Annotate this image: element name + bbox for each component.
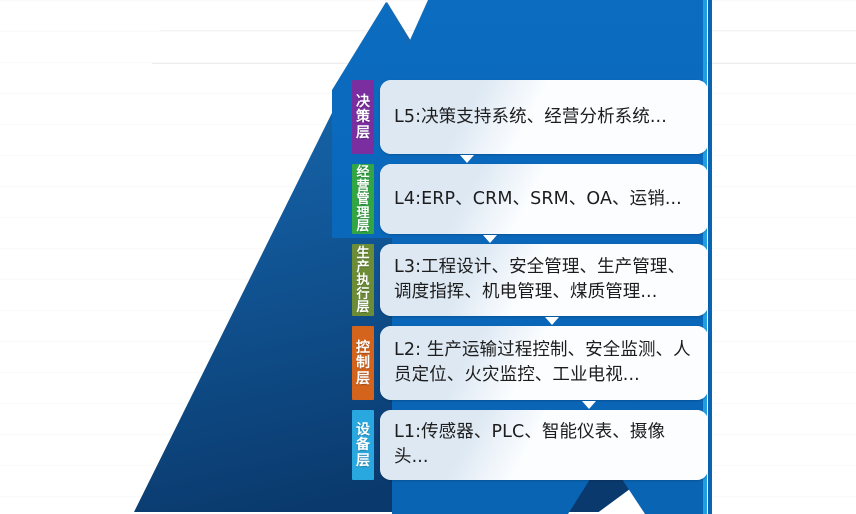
card-l2[interactable]: L2: 生产运输过程控制、安全监测、人员定位、火灾监控、工业电视... [380,326,708,400]
chip-char: 决 [356,94,370,110]
chip-char: 生 [356,246,369,260]
layer-text-l2: L2: 生产运输过程控制、安全监测、人员定位、火灾监控、工业电视... [380,338,708,388]
chip-char: 层 [356,219,369,233]
chip-char: 行 [356,287,369,301]
chip-char: 层 [356,125,370,141]
card-l4[interactable]: L4:ERP、CRM、SRM、OA、运销... [380,164,708,234]
chip-char: 控 [356,340,370,356]
layer-row-l4[interactable]: 经 营 管 理 层 L4:ERP、CRM、SRM、OA、运销... [352,164,708,234]
chip-char: 经 [356,165,369,179]
layer-row-l1[interactable]: 设 备 层 L1:传感器、PLC、智能仪表、摄像头... [352,410,708,480]
connector-notch [460,155,474,163]
layer-text-l3: L3:工程设计、安全管理、生产管理、调度指挥、机电管理、煤质管理... [380,255,708,305]
card-l1[interactable]: L1:传感器、PLC、智能仪表、摄像头... [380,410,708,480]
chip-char: 层 [356,300,369,314]
chip-char: 管 [356,192,369,206]
chip-char: 执 [356,273,369,287]
chip-char: 策 [356,109,370,125]
chip-l3: 生 产 执 行 层 [352,244,374,316]
chip-l4: 经 营 管 理 层 [352,164,374,234]
chip-l5: 决 策 层 [352,80,374,154]
layer-list: 决 策 层 L5:决策支持系统、经营分析系统... 经 营 管 理 层 L4:E… [0,0,856,514]
chip-char: 层 [356,371,370,387]
connector-notch [545,317,559,325]
chip-char: 设 [356,422,370,438]
layer-text-l5: L5:决策支持系统、经营分析系统... [380,105,708,130]
chip-l1: 设 备 层 [352,410,374,480]
layer-row-l2[interactable]: 控 制 层 L2: 生产运输过程控制、安全监测、人员定位、火灾监控、工业电视..… [352,326,708,400]
layer-text-l1: L1:传感器、PLC、智能仪表、摄像头... [380,420,708,470]
chip-char: 层 [356,453,370,469]
layer-row-l5[interactable]: 决 策 层 L5:决策支持系统、经营分析系统... [352,80,708,154]
chip-l2: 控 制 层 [352,326,374,400]
card-l5[interactable]: L5:决策支持系统、经营分析系统... [380,80,708,154]
chip-char: 制 [356,355,370,371]
layer-text-l4: L4:ERP、CRM、SRM、OA、运销... [380,187,708,212]
diagram-canvas: 决 策 层 L5:决策支持系统、经营分析系统... 经 营 管 理 层 L4:E… [0,0,856,514]
card-l3[interactable]: L3:工程设计、安全管理、生产管理、调度指挥、机电管理、煤质管理... [380,244,708,316]
chip-char: 备 [356,437,370,453]
connector-notch [483,235,497,243]
connector-notch [582,401,596,409]
layer-row-l3[interactable]: 生 产 执 行 层 L3:工程设计、安全管理、生产管理、调度指挥、机电管理、煤质… [352,244,708,316]
chip-char: 理 [356,206,369,220]
